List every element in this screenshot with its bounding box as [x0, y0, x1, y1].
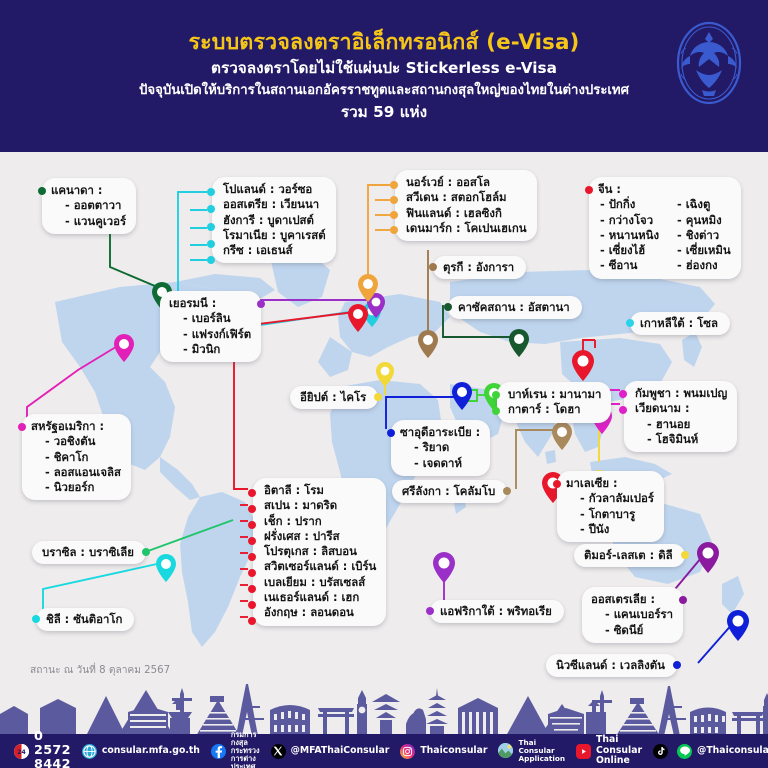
card-nordics-dot-3 [390, 226, 398, 234]
footer-item-line[interactable]: @Thaiconsular [677, 744, 768, 759]
facebook-icon [211, 744, 226, 759]
card-australia-head: ออสเตรเลีย : [591, 592, 673, 607]
footer-item-facebook[interactable]: กรมการกงสุล กระทรวงการต่างประเทศ [211, 731, 260, 768]
card-china-col2-4: - ฮ่องกง [675, 258, 731, 273]
card-south-korea[interactable]: เกาหลีใต้ : โซล [630, 312, 730, 335]
card-western-europe-row-4: โปรตุเกส : ลิสบอน [262, 544, 376, 559]
card-germany-item-1: - แฟรงก์เฟิร์ต [169, 327, 251, 342]
card-timor-leste[interactable]: ติมอร์-เลสเต : ดิลี [574, 544, 685, 567]
card-saudi-item-1: - เจดดาห์ [400, 456, 480, 471]
card-usa-dot [18, 423, 26, 431]
card-usa-item-1: - ชิคาโก [31, 450, 121, 465]
card-canada-head: แคนาดา : [51, 183, 126, 198]
card-western-europe-row-6: เบลเยียม : บรัสเซลส์ [262, 575, 376, 590]
globe-website-icon [82, 744, 97, 759]
map-pin-china [572, 350, 594, 381]
map-pin-australia [697, 542, 719, 573]
card-western-europe-dot-3 [248, 537, 256, 545]
status-date-note: สถานะ ณ วันที่ 8 ตุลาคม 2567 [30, 662, 170, 678]
map-pin-western-europe [348, 304, 368, 332]
card-turkey[interactable]: ตุรกี : อังการา [433, 256, 526, 279]
card-eastern-europe-row-2: ฮังการี : บูดาเปสต์ [221, 213, 326, 228]
card-china-col2-2: - ชิงต่าว [675, 228, 731, 243]
card-australia[interactable]: ออสเตรเลีย : - แคนเบอร์รา - ซิดนีย์ [582, 587, 683, 643]
svg-text:24: 24 [17, 748, 25, 755]
card-china-col2-3: - เซี่ยเหมิน [675, 243, 731, 258]
youtube-icon [576, 744, 591, 759]
footer-contact-bar: 24 0 2572 8442 consular.mfa.go.th กรมการ… [0, 734, 768, 768]
hotline-24h-icon: 24 [14, 744, 29, 759]
card-kazakhstan[interactable]: คาซัคสถาน : อัสตานา [448, 296, 582, 319]
card-cambodia-vietnam[interactable]: กัมพูชา : พนมเปญ เวียดนาม : - ฮานอย - โฮ… [624, 381, 737, 452]
card-south-africa[interactable]: แอฟริกาใต้ : พริทอเรีย [430, 600, 564, 623]
x-twitter-icon [271, 744, 286, 759]
card-kazakhstan-dot [444, 303, 452, 311]
card-china-col2-1: - คุนหมิง [675, 213, 731, 228]
card-china-col1-4: - ซีอาน [598, 258, 659, 273]
card-cambodia-row: กัมพูชา : พนมเปญ [633, 386, 727, 401]
card-south-africa-dot [426, 607, 434, 615]
card-western-europe-row-2: เช็ก : ปราก [262, 514, 376, 529]
card-western-europe-dot-2 [248, 521, 256, 529]
map-container: แคนาดา : - ออตตาวา - แวนคูเวอร์ สหรัฐอเม… [0, 152, 768, 685]
card-vietnam-row: เวียดนาม : [633, 401, 727, 416]
card-australia-item-1: - ซิดนีย์ [591, 623, 673, 638]
map-pin-chile [156, 554, 176, 582]
footer-x-label: @MFAThaiConsular [291, 746, 390, 756]
card-eastern-europe-row-3: โรมาเนีย : บูคาเรสต์ [221, 228, 326, 243]
footer-website-label: consular.mfa.go.th [102, 746, 200, 756]
instagram-icon [400, 744, 415, 759]
footer-facebook-line1: กรมการกงสุล [231, 731, 260, 747]
card-vietnam-dot [619, 406, 627, 414]
card-nordics-row-0: นอร์เวย์ : ออสโล [404, 175, 527, 190]
card-china-col1-2: - หนานหนิง [598, 228, 659, 243]
card-malaysia-head: มาเลเซีย : [566, 476, 654, 491]
card-new-zealand[interactable]: นิวซีแลนด์ : เวลลิงตัน [546, 654, 677, 677]
card-malaysia-item-0: - กัวลาลัมเปอร์ [566, 491, 654, 506]
card-turkey-dot [429, 263, 437, 271]
app-icon [498, 743, 513, 758]
card-chile-dot [32, 615, 40, 623]
card-egypt-text: อียิปต์ : ไคโร [300, 390, 366, 404]
card-germany-item-2: - มิวนิก [169, 342, 251, 357]
card-eastern-europe-dot-4 [207, 256, 215, 264]
card-new-zealand-text: นิวซีแลนด์ : เวลลิงตัน [556, 658, 665, 672]
map-pin-kazakhstan [509, 329, 529, 357]
map-pin-new-zealand [727, 610, 749, 641]
card-gulf-row-0: บาห์เรน : มานามา [506, 387, 601, 402]
card-saudi-arabia[interactable]: ซาอุดีอาระเบีย : - ริยาด - เจดดาห์ [391, 420, 490, 476]
card-nordics-dot-1 [390, 196, 398, 204]
map-pin-saudi [452, 382, 472, 410]
footer-item-app[interactable]: Thai Consular Application [498, 739, 565, 764]
card-western-europe-dot-1 [248, 505, 256, 513]
card-eastern-europe-row-0: โปแลนด์ : วอร์ซอ [221, 182, 326, 197]
card-western-europe-row-1: สเปน : มาดริด [262, 498, 376, 513]
card-brazil[interactable]: บราซิล : บราซิเลีย [32, 541, 146, 564]
card-australia-item-0: - แคนเบอร์รา [591, 607, 673, 622]
card-western-europe-row-7: เนเธอร์แลนด์ : เฮก [262, 590, 376, 605]
footer-item-tiktok[interactable] [653, 744, 673, 759]
map-pin-south-africa [433, 552, 455, 583]
card-western-europe-row-5: สวิตเซอร์แลนด์ : เบิร์น [262, 559, 376, 574]
card-kazakhstan-text: คาซัคสถาน : อัสตานา [458, 300, 570, 314]
card-usa-head: สหรัฐอเมริกา : [31, 419, 121, 434]
card-china-dot [585, 186, 593, 194]
card-saudi-head: ซาอุดีอาระเบีย : [400, 425, 480, 440]
footer-app-line2: Application [518, 755, 565, 763]
card-china-col1-3: - เซี่ยงไฮ้ [598, 243, 659, 258]
line-icon [677, 744, 692, 759]
footer-youtube-label: Thai Consular Online [596, 735, 642, 766]
card-western-europe-dot-7 [248, 601, 256, 609]
card-south-korea-text: เกาหลีใต้ : โซล [640, 316, 718, 330]
footer-instagram-label: Thaiconsular [420, 746, 487, 756]
card-south-africa-text: แอฟริกาใต้ : พริทอเรีย [440, 604, 552, 618]
tiktok-icon [653, 744, 668, 759]
card-nordics-dot-2 [390, 211, 398, 219]
card-chile-text: ชิลี : ซันติอาโก [46, 612, 122, 626]
footer-item-youtube[interactable]: Thai Consular Online [576, 735, 642, 766]
card-western-europe-dot-6 [248, 585, 256, 593]
card-germany-head: เยอรมนี : [169, 296, 251, 311]
card-gulf-row-1: กาตาร์ : โดฮา [506, 402, 601, 417]
card-gulf-dot-0 [492, 391, 500, 399]
card-china-col2-0: - เฉิงตู [675, 197, 731, 212]
footer-item-hotline[interactable]: 24 0 2572 8442 [14, 730, 71, 768]
card-australia-dot [679, 596, 687, 604]
card-western-europe-dot-8 [248, 617, 256, 625]
card-canada-item-0: - ออตตาวา [51, 198, 126, 213]
card-brazil-dot [142, 548, 150, 556]
card-turkey-text: ตุรกี : อังการา [443, 260, 514, 274]
map-pin-egypt [376, 362, 394, 387]
card-china-col1-1: - กว่างโจว [598, 213, 659, 228]
card-usa-item-2: - ลอสแอนเจลิส [31, 465, 121, 480]
card-china-head: จีน : [598, 182, 731, 197]
footer-line-label: @Thaiconsular [697, 746, 768, 756]
header-total-count: รวม 59 แห่ง [341, 103, 427, 123]
card-eastern-europe-dot-2 [207, 223, 215, 231]
page-header: ระบบตรวจลงตราอิเล็กทรอนิกส์ (e-Visa) ตรว… [0, 0, 768, 152]
card-eastern-europe[interactable]: โปแลนด์ : วอร์ซอ ออสเตรีย : เวียนนา ฮังก… [212, 177, 336, 263]
card-eastern-europe-dot-0 [207, 188, 215, 196]
card-vietnam-item-1: - โฮจิมินห์ [633, 432, 727, 447]
card-nordics[interactable]: นอร์เวย์ : ออสโล สวีเดน : สตอกโฮล์ม ฟินแ… [395, 170, 537, 241]
page-title: ระบบตรวจลงตราอิเล็กทรอนิกส์ (e-Visa) [189, 30, 580, 56]
card-western-europe[interactable]: อิตาลี : โรม สเปน : มาดริด เช็ก : ปราก ฝ… [253, 478, 386, 626]
card-saudi-dot [387, 429, 395, 437]
card-malaysia[interactable]: มาเลเซีย : - กัวลาลัมเปอร์ - โกตาบารู - … [557, 471, 664, 542]
card-western-europe-row-0: อิตาลี : โรม [262, 483, 376, 498]
footer-item-website[interactable]: consular.mfa.go.th [82, 744, 200, 759]
card-germany-item-0: - เบอร์ลิน [169, 311, 251, 326]
landmarks-skyline [0, 684, 768, 736]
card-malaysia-item-2: - ปีนัง [566, 522, 654, 537]
card-western-europe-row-3: ฝรั่งเศส : ปารีส [262, 529, 376, 544]
thai-garuda-emblem-icon [672, 18, 746, 108]
card-cambodia-dot [619, 390, 627, 398]
card-nordics-row-3: เดนมาร์ก : โคเปนเฮเกน [404, 221, 527, 236]
card-timor-leste-text: ติมอร์-เลสเต : ดิลี [584, 548, 673, 562]
card-gulf[interactable]: บาห์เรน : มานามา กาตาร์ : โดฮา [497, 382, 611, 423]
card-eastern-europe-row-1: ออสเตรีย : เวียนนา [221, 197, 326, 212]
card-nordics-row-1: สวีเดน : สตอกโฮล์ม [404, 190, 527, 205]
card-brazil-text: บราซิล : บราซิเลีย [42, 545, 134, 559]
card-nordics-dot-0 [390, 181, 398, 189]
card-nordics-row-2: ฟินแลนด์ : เฮลซิงกิ [404, 206, 527, 221]
card-malaysia-dot [553, 480, 561, 488]
map-pin-turkey [418, 330, 438, 358]
card-china-col1-0: - ปักกิ่ง [598, 197, 659, 212]
card-sri-lanka-text: ศรีลังกา : โคลัมโบ [402, 484, 495, 498]
card-saudi-item-0: - ริยาด [400, 440, 480, 455]
card-germany[interactable]: เยอรมนี : - เบอร์ลิน - แฟรงก์เฟิร์ต - มิ… [160, 291, 261, 362]
map-pin-usa [114, 334, 134, 362]
card-gulf-dot-1 [492, 407, 500, 415]
card-western-europe-row-8: อังกฤษ : ลอนดอน [262, 605, 376, 620]
card-usa[interactable]: สหรัฐอเมริกา : - วอชิงตัน - ชิคาโก - ลอส… [22, 414, 131, 500]
card-eastern-europe-dot-1 [207, 205, 215, 213]
card-canada[interactable]: แคนาดา : - ออตตาวา - แวนคูเวอร์ [42, 178, 136, 234]
card-vietnam-item-0: - ฮานอย [633, 417, 727, 432]
footer-facebook-line2: กระทรวงการต่างประเทศ [231, 747, 260, 768]
card-timor-leste-dot [681, 551, 689, 559]
map-pin-sri-lanka [552, 422, 572, 450]
footer-hotline-label: 0 2572 8442 [34, 730, 71, 768]
card-south-korea-dot [626, 319, 634, 327]
card-malaysia-item-1: - โกตาบารู [566, 507, 654, 522]
card-china[interactable]: จีน : - ปักกิ่ง - กว่างโจว - หนานหนิง - … [589, 177, 741, 279]
card-usa-item-0: - วอชิงตัน [31, 434, 121, 449]
card-sri-lanka[interactable]: ศรีลังกา : โคลัมโบ [392, 480, 507, 503]
card-usa-item-3: - นิวยอร์ก [31, 480, 121, 495]
card-western-europe-dot-4 [248, 553, 256, 561]
card-western-europe-dot-5 [248, 569, 256, 577]
card-eastern-europe-dot-3 [207, 240, 215, 248]
footer-app-line1: Thai Consular [518, 739, 565, 755]
card-new-zealand-dot [673, 661, 681, 669]
card-canada-dot [38, 187, 46, 195]
card-chile[interactable]: ชิลี : ซันติอาโก [36, 608, 134, 631]
card-egypt[interactable]: อียิปต์ : ไคโร [290, 386, 378, 409]
card-western-europe-dot-0 [248, 489, 256, 497]
card-eastern-europe-row-4: กรีซ : เอเธนส์ [221, 243, 326, 258]
card-canada-item-1: - แวนคูเวอร์ [51, 214, 126, 229]
header-subtitle-2: ปัจจุบันเปิดให้บริการในสถานเอกอัครราชทูต… [139, 82, 629, 100]
header-subtitle-1: ตรวจลงตราโดยไม่ใช้แผ่นปะ Stickerless e-V… [211, 59, 557, 79]
footer-item-instagram[interactable]: Thaiconsular [400, 744, 487, 759]
footer-item-x-twitter[interactable]: @MFAThaiConsular [271, 744, 390, 759]
